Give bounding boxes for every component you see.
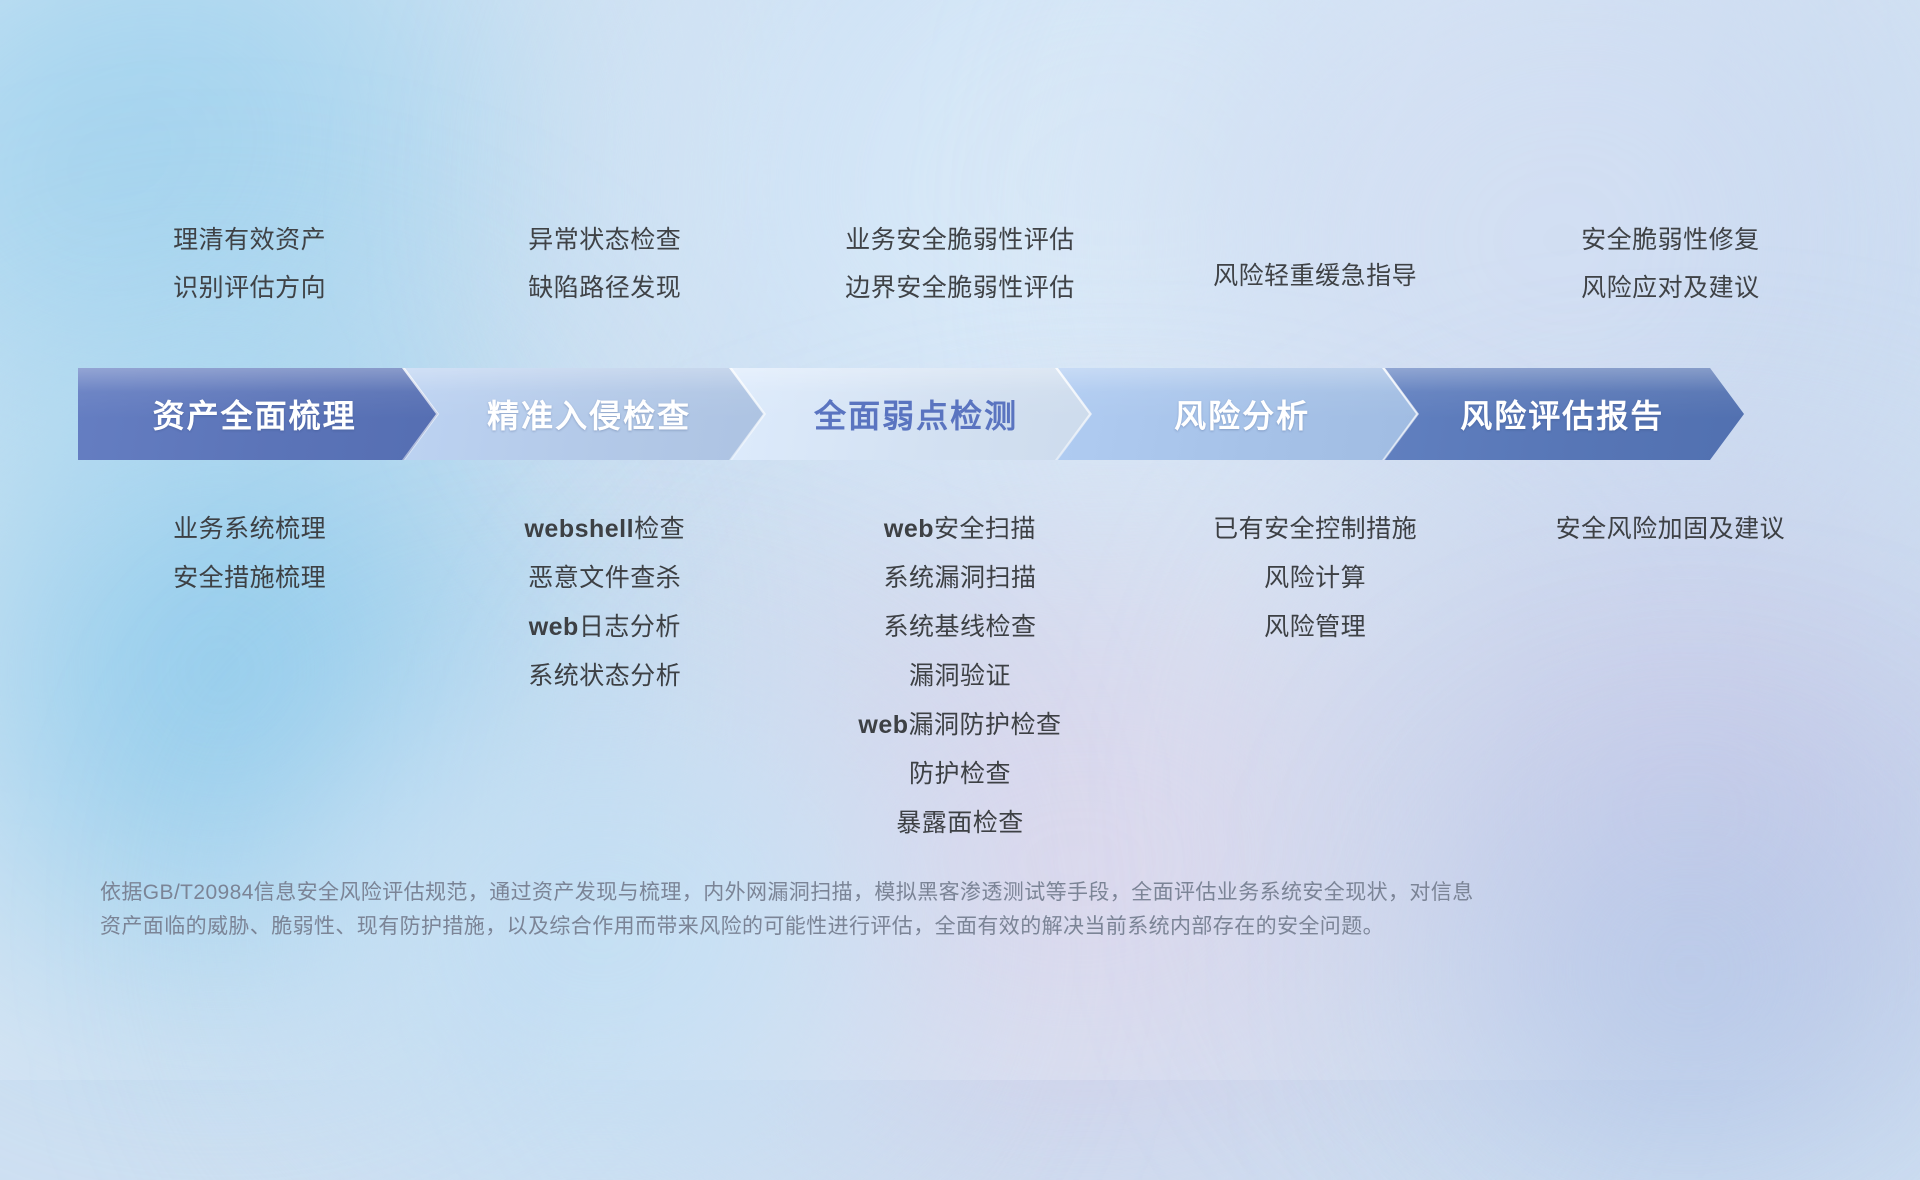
- top-column-intrusion-check: 异常状态检查缺陷路径发现: [427, 228, 782, 324]
- top-item: 识别评估方向: [173, 276, 326, 301]
- top-item: 风险应对及建议: [1581, 276, 1760, 301]
- stage-label-risk-report: 风险评估报告: [1460, 391, 1664, 437]
- bottom-item: 已有安全控制措施: [1213, 517, 1417, 542]
- top-label-row: 理清有效资产识别评估方向异常状态检查缺陷路径发现业务安全脆弱性评估边界安全脆弱性…: [72, 228, 1848, 324]
- stage-label-asset-inventory: 资产全面梳理: [153, 391, 357, 437]
- stage-label-weakness-detection: 全面弱点检测: [814, 391, 1018, 437]
- bottom-item: 系统漏洞扫描: [883, 566, 1036, 591]
- stage-label-intrusion-check: 精准入侵检查: [487, 391, 691, 437]
- footer-line-1: 依据GB/T20984信息安全风险评估规范，通过资产发现与梳理，内外网漏洞扫描，…: [100, 876, 1660, 910]
- top-item: 安全脆弱性修复: [1581, 228, 1760, 253]
- bottom-item: webshell检查: [524, 517, 685, 542]
- bottom-item: web漏洞防护检查: [858, 713, 1061, 738]
- bottom-item: 恶意文件查杀: [528, 566, 681, 591]
- top-item: 业务安全脆弱性评估: [845, 228, 1075, 253]
- top-item: 缺陷路径发现: [528, 276, 681, 301]
- stage-chevron-asset-inventory[interactable]: 资产全面梳理: [78, 368, 438, 460]
- bottom-item: 漏洞验证: [909, 664, 1011, 689]
- process-chevron-banner: 资产全面梳理精准入侵检查全面弱点检测风险分析风险评估报告: [78, 368, 1846, 460]
- top-column-asset-inventory: 理清有效资产识别评估方向: [72, 228, 427, 324]
- bottom-item: 风险管理: [1264, 615, 1366, 640]
- bottom-item: 系统基线检查: [883, 615, 1036, 640]
- stage-chevron-risk-analysis[interactable]: 风险分析: [1057, 368, 1417, 460]
- bottom-item: 防护检查: [909, 762, 1011, 787]
- top-column-risk-report: 安全脆弱性修复风险应对及建议: [1493, 228, 1848, 324]
- bottom-item: 风险计算: [1264, 566, 1366, 591]
- stage-label-risk-analysis: 风险分析: [1174, 391, 1310, 437]
- bottom-column-weakness-detection: web安全扫描系统漏洞扫描系统基线检查漏洞验证web漏洞防护检查防护检查暴露面检…: [782, 517, 1137, 860]
- bottom-column-intrusion-check: webshell检查恶意文件查杀web日志分析系统状态分析: [427, 517, 782, 860]
- bottom-item: 系统状态分析: [528, 664, 681, 689]
- bottom-column-asset-inventory: 业务系统梳理安全措施梳理: [72, 517, 427, 860]
- stage-chevron-risk-report[interactable]: 风险评估报告: [1384, 368, 1744, 460]
- bottom-column-risk-report: 安全风险加固及建议: [1493, 517, 1848, 860]
- top-column-weakness-detection: 业务安全脆弱性评估边界安全脆弱性评估: [782, 228, 1137, 324]
- top-item: 理清有效资产: [173, 228, 326, 253]
- bottom-label-row: 业务系统梳理安全措施梳理webshell检查恶意文件查杀web日志分析系统状态分…: [72, 517, 1848, 860]
- bottom-item: web安全扫描: [884, 517, 1036, 542]
- top-column-risk-analysis: 风险轻重缓急指导: [1138, 228, 1493, 324]
- bottom-item: 业务系统梳理: [173, 517, 326, 542]
- footer-line-2: 资产面临的威胁、脆弱性、现有防护措施，以及综合作用而带来风险的可能性进行评估，全…: [100, 910, 1660, 944]
- top-item: 异常状态检查: [528, 228, 681, 253]
- stage-chevron-weakness-detection[interactable]: 全面弱点检测: [731, 368, 1091, 460]
- footer-description: 依据GB/T20984信息安全风险评估规范，通过资产发现与梳理，内外网漏洞扫描，…: [100, 876, 1660, 944]
- top-item: 风险轻重缓急指导: [1213, 264, 1417, 289]
- bottom-column-risk-analysis: 已有安全控制措施风险计算风险管理: [1138, 517, 1493, 860]
- top-item: 边界安全脆弱性评估: [845, 276, 1075, 301]
- bottom-item: 安全措施梳理: [173, 566, 326, 591]
- bottom-item: 安全风险加固及建议: [1556, 517, 1786, 542]
- bottom-item: web日志分析: [529, 615, 681, 640]
- bottom-item: 暴露面检查: [896, 811, 1024, 836]
- stage-chevron-intrusion-check[interactable]: 精准入侵检查: [404, 368, 764, 460]
